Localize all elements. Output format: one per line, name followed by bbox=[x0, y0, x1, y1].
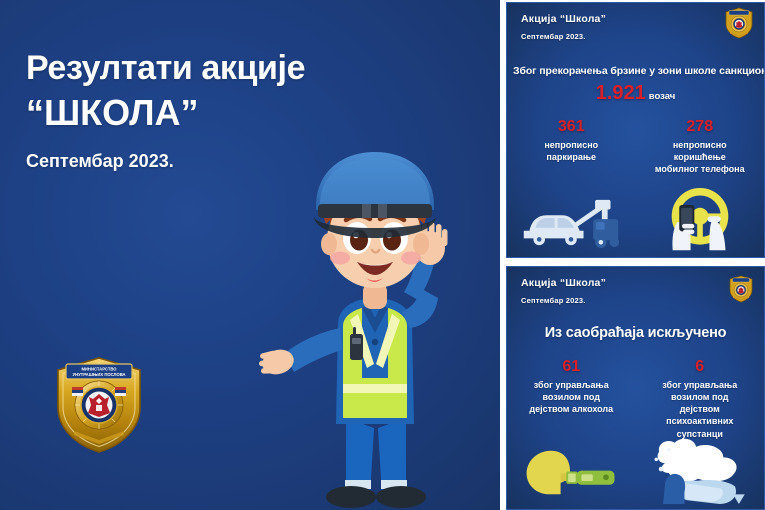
total-unit: возач bbox=[649, 91, 676, 102]
panel-header-bottom: Акција “Школа” Септембар 2023. bbox=[521, 277, 606, 305]
stat-label-line: коришћење bbox=[642, 151, 759, 163]
stat-label-line: психоактивних bbox=[642, 415, 759, 427]
icon-cell-drug-substance bbox=[636, 435, 765, 510]
speeding-stats-panel: Акција “Школа” Септембар 2023. Због прек… bbox=[506, 2, 765, 258]
icon-cell-breathalyzer bbox=[507, 435, 636, 510]
stat-label-line: због управљања bbox=[513, 379, 630, 391]
stat-label: непрописно коришћење мобилног телефона bbox=[642, 139, 759, 175]
total-sanctioned-drivers: 1.921возач bbox=[507, 82, 764, 105]
police-badge-icon bbox=[724, 7, 754, 39]
panel-headline: Због прекорачења брзине у зони школе сан… bbox=[507, 65, 764, 77]
police-badge-icon bbox=[728, 275, 754, 303]
stat-group-bottom: 61 због управљања возилом под дејством а… bbox=[507, 359, 764, 440]
stat-number: 6 bbox=[642, 359, 759, 375]
total-number: 1.921 bbox=[596, 82, 646, 104]
stat-label-line: непрописно bbox=[513, 139, 630, 151]
icon-cell-tow-truck bbox=[507, 185, 636, 258]
stat-illegal-parking: 361 непрописно паркирање bbox=[507, 119, 636, 175]
icon-cell-phone-driving bbox=[636, 185, 765, 258]
stat-label-line: дејством bbox=[642, 403, 759, 415]
panel-header-top: Акција “Школа” Септембар 2023. bbox=[521, 13, 606, 41]
stat-psychoactive-substances: 6 због управљања возилом под дејством пс… bbox=[636, 359, 765, 440]
excluded-from-traffic-panel: Акција “Школа” Септембар 2023. Из саобра… bbox=[506, 266, 765, 510]
stat-label-line: паркирање bbox=[513, 151, 630, 163]
panel-date: Септембар 2023. bbox=[521, 296, 606, 305]
svg-text:УНУТРАШЊИХ ПОСЛОВА: УНУТРАШЊИХ ПОСЛОВА bbox=[72, 372, 125, 377]
cartoon-traffic-officer-illustration bbox=[250, 128, 500, 510]
stat-label-line: дејством алкохола bbox=[513, 403, 630, 415]
panel-title: Акција “Школа” bbox=[521, 13, 606, 25]
stat-label: због управљања возилом под дејством псих… bbox=[642, 379, 759, 440]
stat-label-line: возилом под bbox=[513, 391, 630, 403]
panel-title: Акција “Школа” bbox=[521, 277, 606, 289]
page-title-line1: Резултати акције bbox=[26, 48, 366, 88]
stat-label-line: непрописно bbox=[642, 139, 759, 151]
icon-group-top bbox=[507, 185, 764, 258]
stat-mobile-phone-use: 278 непрописно коришћење мобилног телефо… bbox=[636, 119, 765, 175]
stat-number: 361 bbox=[513, 119, 630, 135]
infographic-root: Резултати акције “ШКОЛА” Септембар 2023. bbox=[0, 0, 765, 510]
stat-label: због управљања возилом под дејством алко… bbox=[513, 379, 630, 415]
stat-number: 61 bbox=[513, 359, 630, 375]
drug-substance-icon bbox=[651, 436, 749, 510]
phone-while-driving-icon bbox=[652, 188, 748, 258]
panel-headline: Из саобраћаја искључено bbox=[507, 325, 764, 341]
stat-label-line: због управљања bbox=[642, 379, 759, 391]
panel-date: Септембар 2023. bbox=[521, 32, 606, 41]
stat-label: непрописно паркирање bbox=[513, 139, 630, 163]
stat-alcohol: 61 због управљања возилом под дејством а… bbox=[507, 359, 636, 440]
stat-label-line: возилом под bbox=[642, 391, 759, 403]
police-badge-icon: МИНИСТАРСТВО УНУТРАШЊИХ ПОСЛОВА bbox=[52, 355, 146, 455]
breathalyzer-icon bbox=[519, 445, 623, 505]
stat-label-line: мобилног телефона bbox=[642, 163, 759, 175]
stat-group-top: 361 непрописно паркирање 278 непрописно … bbox=[507, 119, 764, 175]
main-title-panel: Резултати акције “ШКОЛА” Септембар 2023. bbox=[0, 0, 500, 510]
svg-text:МИНИСТАРСТВО: МИНИСТАРСТВО bbox=[81, 366, 117, 371]
tow-truck-icon bbox=[518, 192, 624, 258]
stat-number: 278 bbox=[642, 119, 759, 135]
icon-group-bottom bbox=[507, 435, 764, 510]
